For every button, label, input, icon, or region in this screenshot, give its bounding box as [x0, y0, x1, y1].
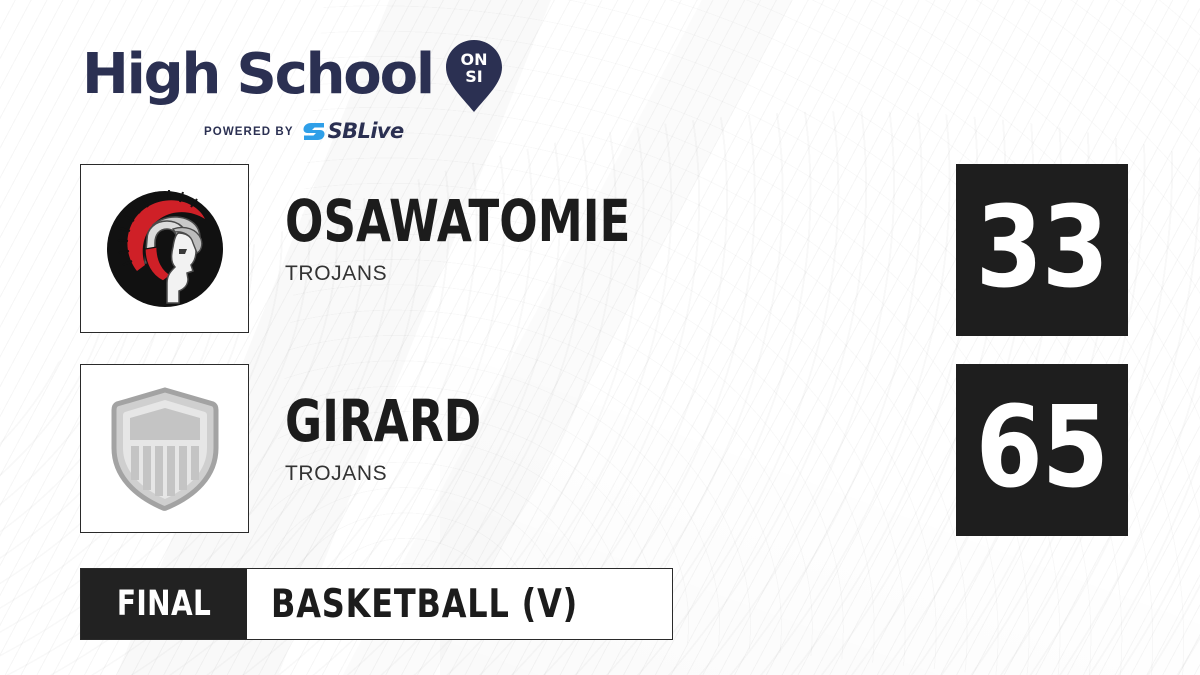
team-mascot-osawatomie: TROJANS — [285, 262, 728, 286]
team-logo-box-osawatomie — [80, 164, 249, 333]
powered-by-label: POWERED BY — [204, 126, 294, 138]
team-name-osawatomie: OSAWATOMIE — [285, 192, 630, 250]
team-name-girard: GIRARD — [285, 392, 481, 450]
sblive-bolt-icon — [303, 122, 325, 141]
brand-lockup: High School ON SI POWERED BY SBLive — [82, 36, 552, 142]
score-value-girard: 65 — [976, 392, 1108, 508]
brand-secondary-row: POWERED BY SBLive — [82, 121, 552, 142]
team-row-away: GIRARD TROJANS 65 — [80, 364, 1122, 536]
sport-label-container: BASKETBALL (V) — [247, 569, 671, 639]
score-box-osawatomie: 33 — [956, 164, 1128, 336]
status-bar: FINAL BASKETBALL (V) — [80, 568, 673, 640]
sblive-wordmark-lower: ive — [370, 119, 403, 143]
scorecard-graphic: High School ON SI POWERED BY SBLive — [0, 0, 1200, 675]
sport-label: BASKETBALL (V) — [271, 585, 578, 624]
team-mascot-girard: TROJANS — [285, 462, 537, 486]
team-row-home: OSAWATOMIE TROJANS 33 — [80, 164, 1122, 336]
trojan-head-logo-icon — [101, 185, 229, 313]
status-badge-final: FINAL — [81, 569, 247, 639]
score-value-osawatomie: 33 — [976, 192, 1108, 308]
team-text-osawatomie: OSAWATOMIE TROJANS — [285, 192, 728, 286]
team-logo-box-girard — [80, 364, 249, 533]
status-badge-label: FINAL — [117, 587, 212, 622]
score-box-girard: 65 — [956, 364, 1128, 536]
on-si-pin-icon: ON SI — [443, 38, 505, 114]
team-text-girard: GIRARD TROJANS — [285, 392, 537, 486]
brand-primary-row: High School ON SI — [82, 36, 552, 114]
high-school-wordmark: High School — [82, 47, 433, 103]
sblive-logo: SBLive — [303, 121, 404, 142]
sblive-wordmark: SBLive — [328, 121, 404, 142]
pin-label-si: SI — [465, 67, 482, 86]
placeholder-shield-logo-icon — [105, 384, 225, 514]
sblive-wordmark-upper: SBL — [328, 119, 371, 143]
